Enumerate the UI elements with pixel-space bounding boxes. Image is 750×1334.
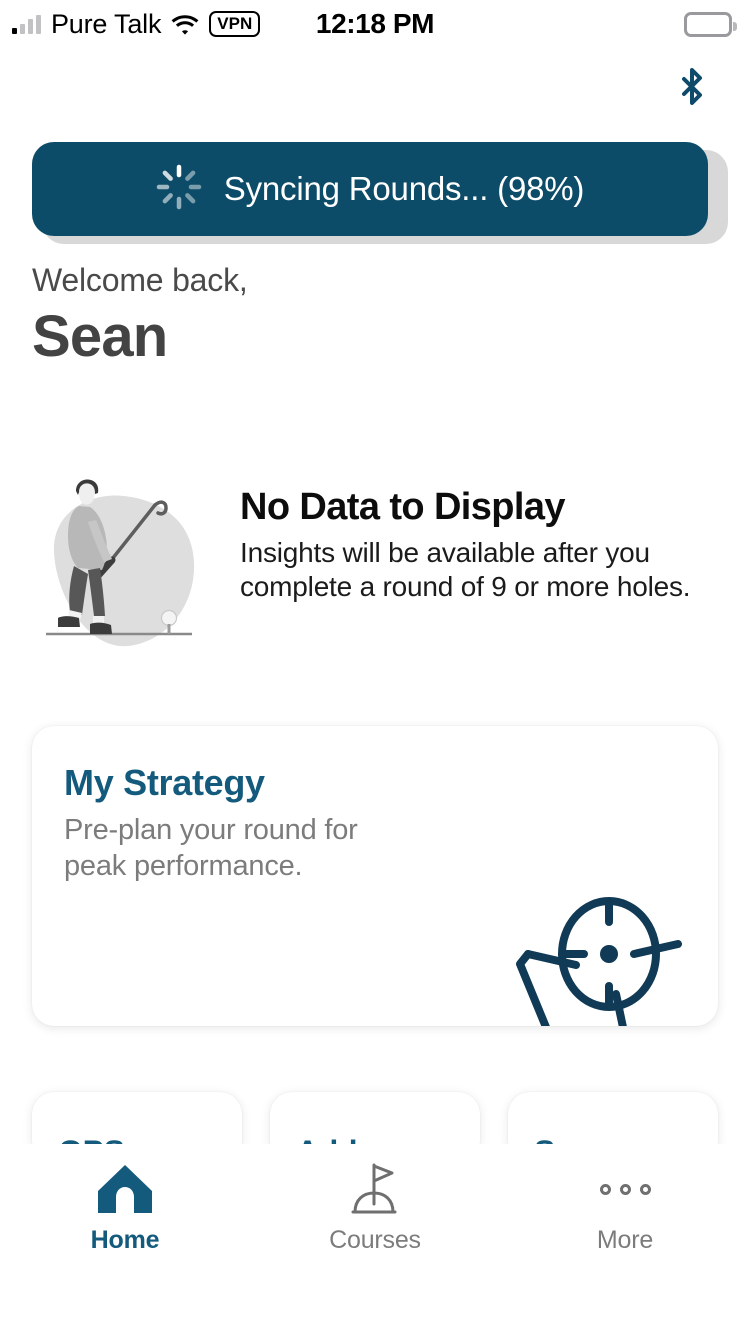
user-name: Sean [32,307,248,368]
home-icon [96,1162,154,1216]
spinner-icon [156,164,202,215]
wifi-icon [171,14,199,35]
carrier-label: Pure Talk [51,9,161,40]
tab-courses[interactable]: Courses [250,1162,500,1255]
sync-status-label: Syncing Rounds... (98%) [224,170,584,208]
my-strategy-title: My Strategy [64,762,265,804]
status-bar-left: Pure Talk VPN [12,9,260,40]
tab-more[interactable]: More [500,1162,750,1255]
my-strategy-description: Pre-plan your round for peak performance… [64,812,404,885]
status-bar-right [684,12,732,37]
welcome-greeting: Welcome back, [32,262,248,299]
cellular-signal-icon [12,14,41,34]
vpn-badge: VPN [209,11,260,38]
tab-courses-label: Courses [329,1226,421,1255]
bluetooth-status-row [662,62,722,124]
bottom-tab-bar: Home Courses More [0,1144,750,1334]
sync-banner-container: Syncing Rounds... (98%) [32,142,718,238]
ellipsis-icon [600,1162,651,1216]
app-screen: Pure Talk VPN 12:18 PM [0,0,750,1334]
tab-more-label: More [597,1226,653,1255]
empty-state-text: No Data to Display Insights will be avai… [240,466,722,605]
bluetooth-icon[interactable] [675,66,709,121]
my-strategy-card[interactable]: My Strategy Pre-plan your round for peak… [32,726,718,1026]
empty-state-subtitle: Insights will be available after you com… [240,536,722,605]
insights-empty-state: No Data to Display Insights will be avai… [32,466,722,667]
sync-banner[interactable]: Syncing Rounds... (98%) [32,142,708,236]
tab-home-label: Home [91,1226,160,1255]
golf-flag-icon [347,1162,403,1216]
welcome-block: Welcome back, Sean [32,262,248,368]
status-bar: Pure Talk VPN 12:18 PM [0,0,750,48]
empty-state-title: No Data to Display [240,486,722,530]
battery-icon [684,12,732,37]
tab-home[interactable]: Home [0,1162,250,1255]
golfer-illustration [32,466,218,667]
